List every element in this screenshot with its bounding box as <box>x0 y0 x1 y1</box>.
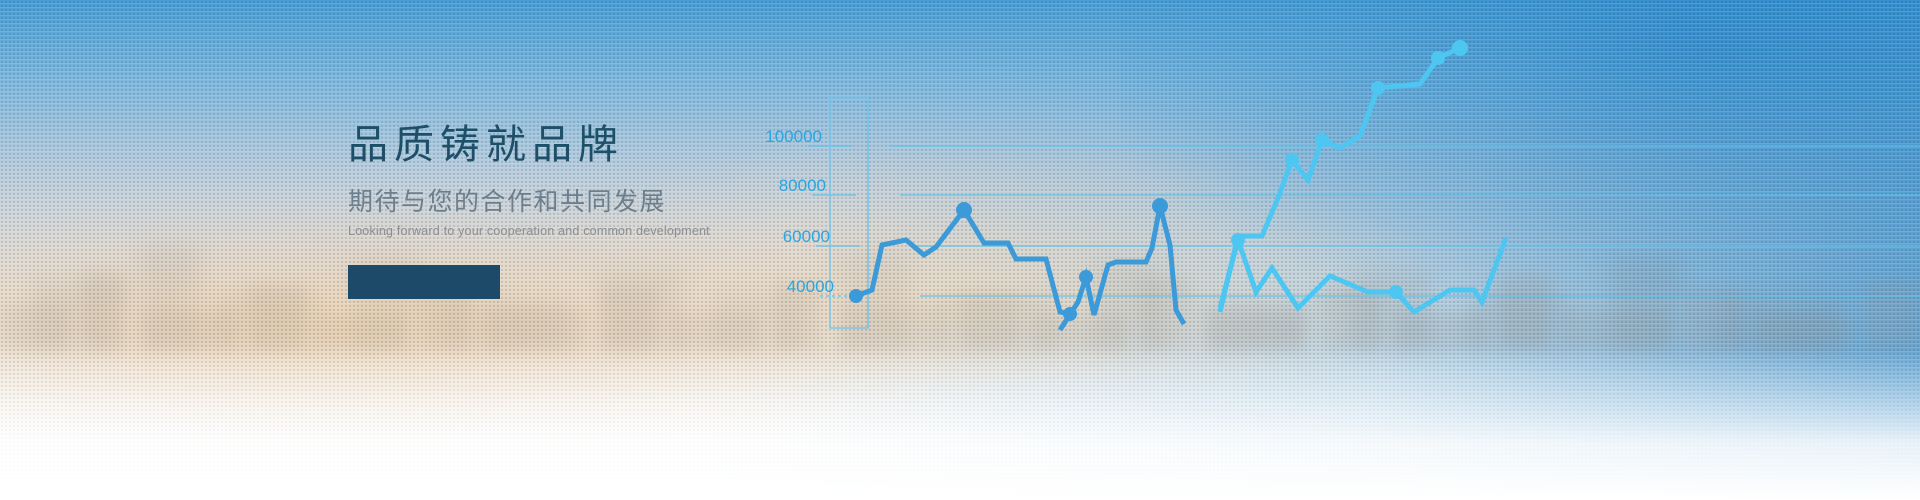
chart-series-right-low <box>1220 238 1506 312</box>
hero-banner: 100000 80000 60000 40000 <box>0 0 1920 500</box>
cta-button[interactable] <box>348 265 500 299</box>
chart-series-mid <box>1060 206 1184 330</box>
page-title: 品质铸就品牌 <box>348 122 868 169</box>
hero-english-tagline: Looking forward to your cooperation and … <box>348 223 868 239</box>
chart-series-left <box>856 210 1070 314</box>
chart-series-right-high-markers <box>1285 40 1468 167</box>
line-chart: 100000 80000 60000 40000 <box>760 40 1920 370</box>
chart-gridlines <box>890 146 1920 296</box>
hero-copy: 品质铸就品牌 期待与您的合作和共同发展 Looking forward to y… <box>348 122 868 299</box>
chart-series-right-high <box>1220 48 1460 312</box>
hero-subheadline: 期待与您的合作和共同发展 <box>348 187 868 217</box>
bottom-white-fade <box>0 350 1920 500</box>
